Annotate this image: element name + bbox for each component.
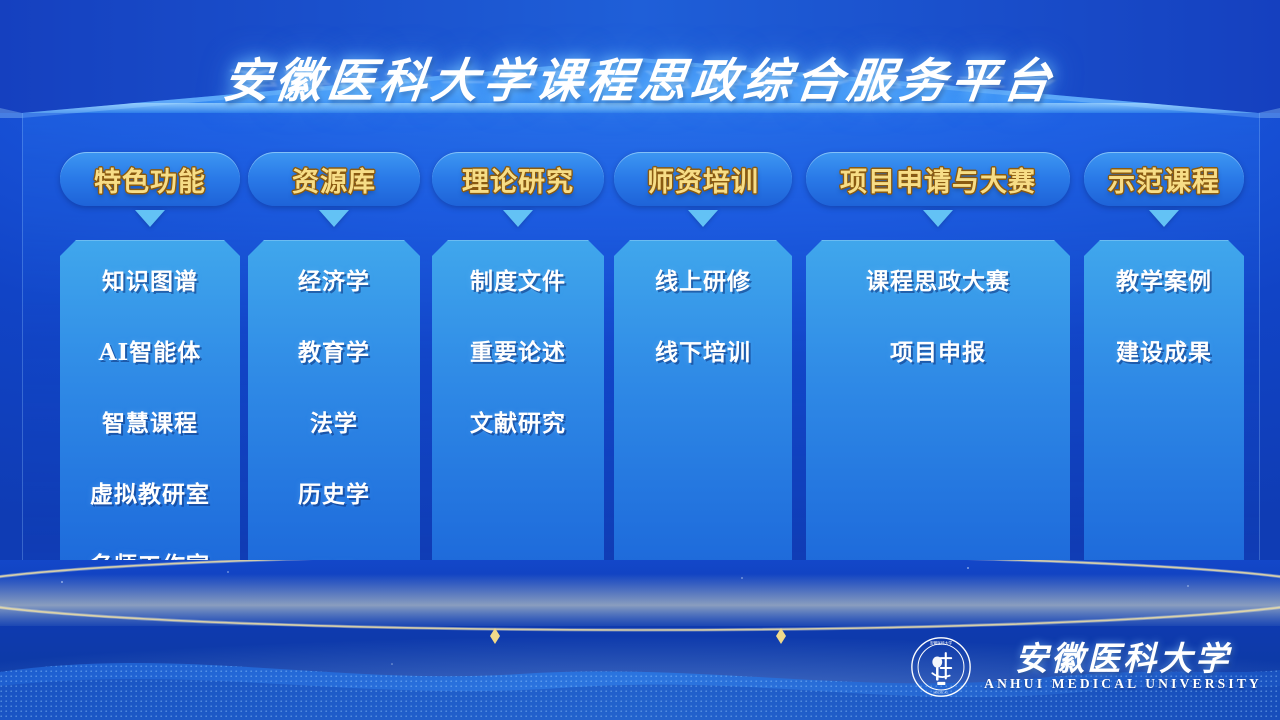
list-item[interactable]: 项目申报: [806, 333, 1070, 367]
column-header-label: 项目申请与大赛: [840, 160, 1036, 199]
chevron-down-icon: [503, 210, 533, 227]
list-item[interactable]: 重要论述: [432, 333, 604, 367]
column-resource-library: 资源库 经济学 教育学 法学 历史学 ……: [248, 152, 420, 206]
column-header-label: 特色功能: [94, 160, 206, 199]
list-item[interactable]: 教育学: [248, 333, 420, 367]
column-features: 特色功能 知识图谱 AI智能体 智慧课程 虚拟教研室 名师工作室: [60, 152, 240, 206]
column-header-teacher-training[interactable]: 师资培训: [614, 152, 792, 206]
column-header-resource-library[interactable]: 资源库: [248, 152, 420, 206]
column-header-label: 资源库: [292, 160, 376, 199]
list-item[interactable]: 文献研究: [432, 404, 604, 438]
column-header-project-competition[interactable]: 项目申请与大赛: [806, 152, 1070, 206]
list-item[interactable]: 线上研修: [614, 262, 792, 296]
chevron-down-icon: [923, 210, 953, 227]
university-seal-icon: 安徽医科大学 MEDICAL: [910, 636, 972, 698]
list-item[interactable]: 智慧课程: [60, 404, 240, 438]
column-header-label: 示范课程: [1108, 160, 1220, 199]
logo-name-cn: 安徽医科大学: [1015, 642, 1231, 675]
chevron-down-icon: [1149, 210, 1179, 227]
list-item[interactable]: 教学案例: [1084, 262, 1244, 296]
list-item[interactable]: 经济学: [248, 262, 420, 296]
list-item[interactable]: 历史学: [248, 475, 420, 509]
column-header-label: 理论研究: [462, 160, 574, 199]
chevron-down-icon: [319, 210, 349, 227]
slide-root: 安徽医科大学课程思政综合服务平台 安徽医科大学课程思政综合服务平台 特色功能 知…: [0, 0, 1280, 720]
list-item[interactable]: 虚拟教研室: [60, 475, 240, 509]
list-item[interactable]: 建设成果: [1084, 333, 1244, 367]
column-demo-courses: 示范课程 教学案例 建设成果: [1084, 152, 1244, 206]
chevron-down-icon: [688, 210, 718, 227]
university-logo: 安徽医科大学 MEDICAL 安徽医科大学 ANHUI MEDICAL UNIV…: [910, 632, 1262, 702]
svg-text:安徽医科大学: 安徽医科大学: [930, 641, 953, 646]
list-item[interactable]: 法学: [248, 404, 420, 438]
svg-text:MEDICAL: MEDICAL: [934, 691, 949, 695]
column-project-competition: 项目申请与大赛 课程思政大赛 项目申报: [806, 152, 1070, 206]
column-header-demo-courses[interactable]: 示范课程: [1084, 152, 1244, 206]
column-header-theory-research[interactable]: 理论研究: [432, 152, 604, 206]
column-header-features[interactable]: 特色功能: [60, 152, 240, 206]
column-header-label: 师资培训: [647, 160, 759, 199]
list-item[interactable]: 知识图谱: [60, 262, 240, 296]
chevron-down-icon: [135, 210, 165, 227]
list-item[interactable]: 课程思政大赛: [806, 262, 1070, 296]
list-item[interactable]: 线下培训: [614, 333, 792, 367]
column-teacher-training: 师资培训 线上研修 线下培训: [614, 152, 792, 206]
list-item[interactable]: 制度文件: [432, 262, 604, 296]
logo-name-en: ANHUI MEDICAL UNIVERSITY: [984, 676, 1262, 692]
list-item[interactable]: AI智能体: [60, 333, 240, 367]
column-theory-research: 理论研究 制度文件 重要论述 文献研究: [432, 152, 604, 206]
